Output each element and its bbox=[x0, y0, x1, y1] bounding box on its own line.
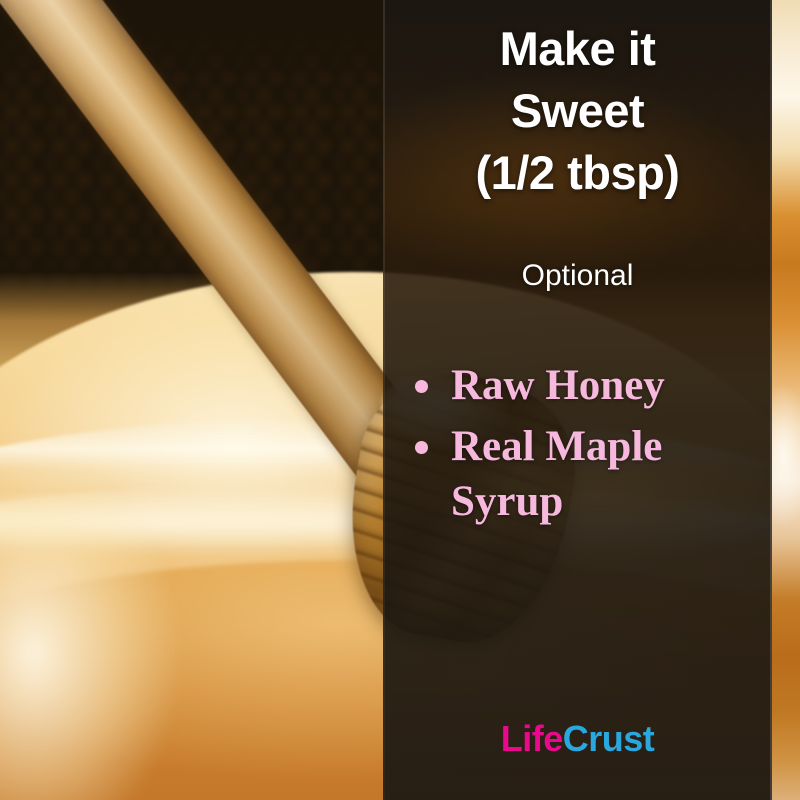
headline-line-3: (1/2 tbsp) bbox=[383, 142, 772, 204]
logo-text-life: Life bbox=[501, 718, 563, 759]
logo-text-crust: Crust bbox=[563, 718, 655, 759]
glass-reflection-glow bbox=[0, 416, 224, 800]
right-photo-strip bbox=[772, 0, 800, 800]
headline-line-1: Make it bbox=[500, 22, 656, 75]
right-strip-highlight bbox=[772, 0, 800, 800]
content-column: Make it Sweet (1/2 tbsp) Optional Raw Ho… bbox=[383, 0, 772, 800]
headline-line-2: Sweet bbox=[511, 84, 644, 137]
brand-logo: LifeCrust bbox=[383, 718, 772, 760]
page-title: Make it Sweet (1/2 tbsp) bbox=[383, 18, 772, 204]
recipe-poster: Make it Sweet (1/2 tbsp) Optional Raw Ho… bbox=[0, 0, 800, 800]
list-item: Real Maple Syrup bbox=[409, 419, 762, 529]
subtitle-optional: Optional bbox=[383, 258, 772, 294]
ingredient-list: Raw Honey Real Maple Syrup bbox=[409, 358, 762, 535]
list-item: Raw Honey bbox=[409, 358, 762, 413]
